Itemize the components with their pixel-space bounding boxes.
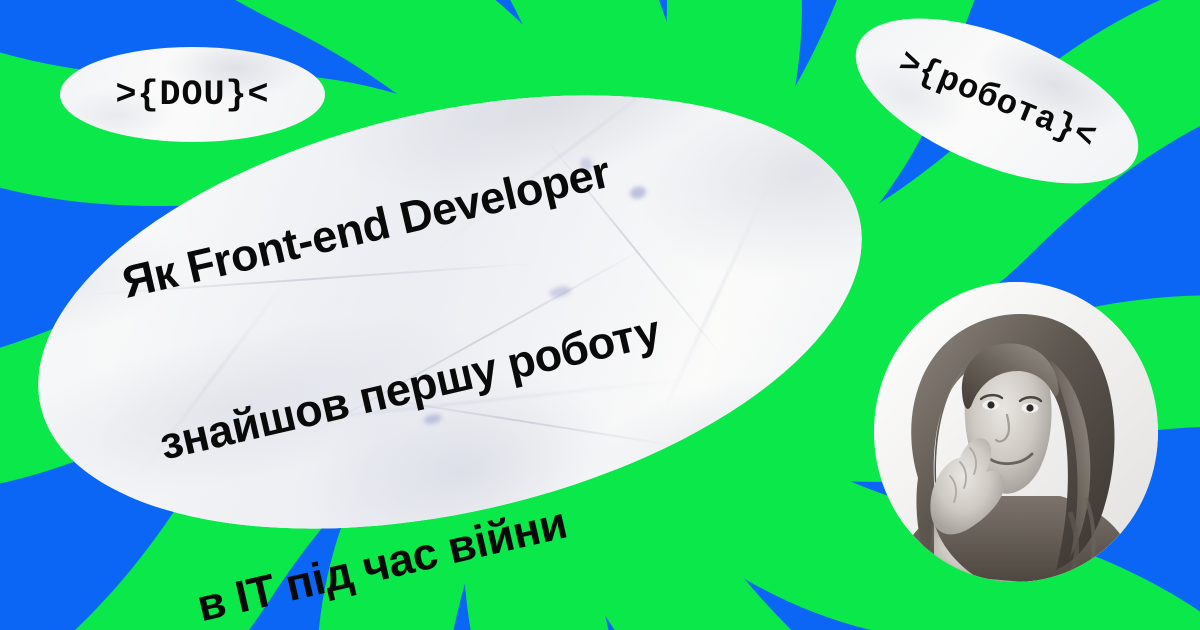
author-portrait [874,282,1158,582]
badge-dou-label: >{DOU}< [115,75,269,115]
dou-social-cover: Як Front-end Developer знайшов першу роб… [0,0,1200,630]
badge-dou[interactable]: >{DOU}< [60,47,325,142]
portrait-image [874,282,1158,582]
